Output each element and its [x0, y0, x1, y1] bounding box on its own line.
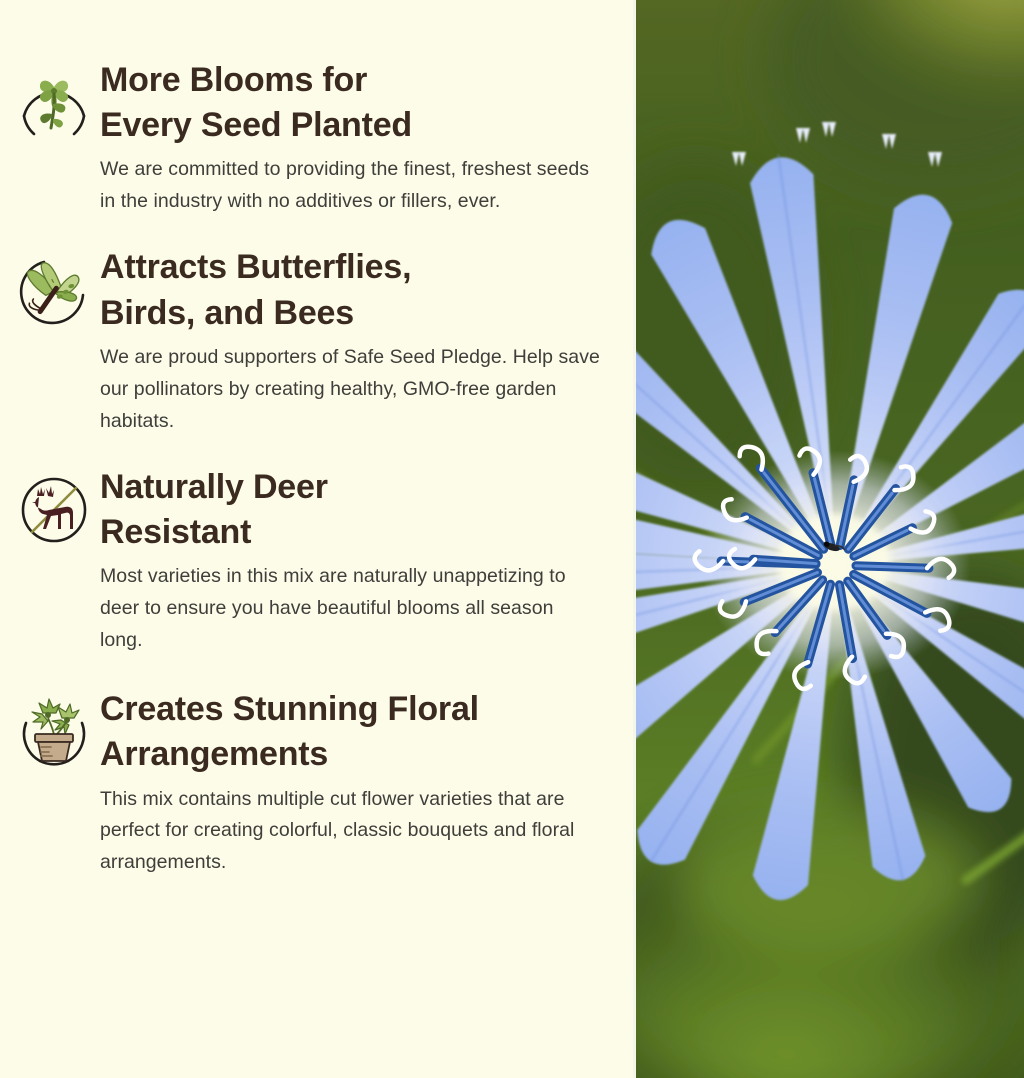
benefit-title: More Blooms for Every Seed Planted — [100, 58, 603, 148]
benefit-item-more-blooms: More Blooms for Every Seed Planted We ar… — [0, 58, 633, 218]
benefit-title: Creates Stunning Floral Arrangements — [100, 687, 603, 777]
benefit-body: We are proud supporters of Safe Seed Ple… — [100, 342, 603, 438]
benefit-item-deer-resistant: Naturally Deer Resistant Most varieties … — [0, 465, 633, 657]
no-deer-icon — [8, 465, 100, 557]
benefit-body: Most varieties in this mix are naturally… — [100, 561, 600, 657]
flower-photo-illustration — [636, 0, 1024, 1078]
benefit-item-attracts-pollinators: Attracts Butterflies, Birds, and Bees We… — [0, 245, 633, 437]
butterfly-icon — [8, 245, 100, 337]
benefit-text-block: Creates Stunning Floral Arrangements Thi… — [100, 687, 633, 879]
product-benefits-page: More Blooms for Every Seed Planted We ar… — [0, 0, 1024, 1078]
benefit-body: We are committed to providing the finest… — [100, 154, 600, 218]
potted-plant-icon — [8, 687, 100, 779]
benefit-title: Attracts Butterflies, Birds, and Bees — [100, 245, 603, 335]
benefit-item-floral-arrangements: Creates Stunning Floral Arrangements Thi… — [0, 687, 633, 879]
benefit-text-block: Naturally Deer Resistant Most varieties … — [100, 465, 633, 657]
benefit-text-block: More Blooms for Every Seed Planted We ar… — [100, 58, 633, 218]
chicory-flower-closeup — [636, 0, 1024, 1078]
benefit-body: This mix contains multiple cut flower va… — [100, 784, 603, 880]
benefit-title: Naturally Deer Resistant — [100, 465, 603, 555]
flower-sprout-icon — [8, 58, 100, 150]
benefit-text-block: Attracts Butterflies, Birds, and Bees We… — [100, 245, 633, 437]
benefits-panel: More Blooms for Every Seed Planted We ar… — [0, 0, 633, 1078]
